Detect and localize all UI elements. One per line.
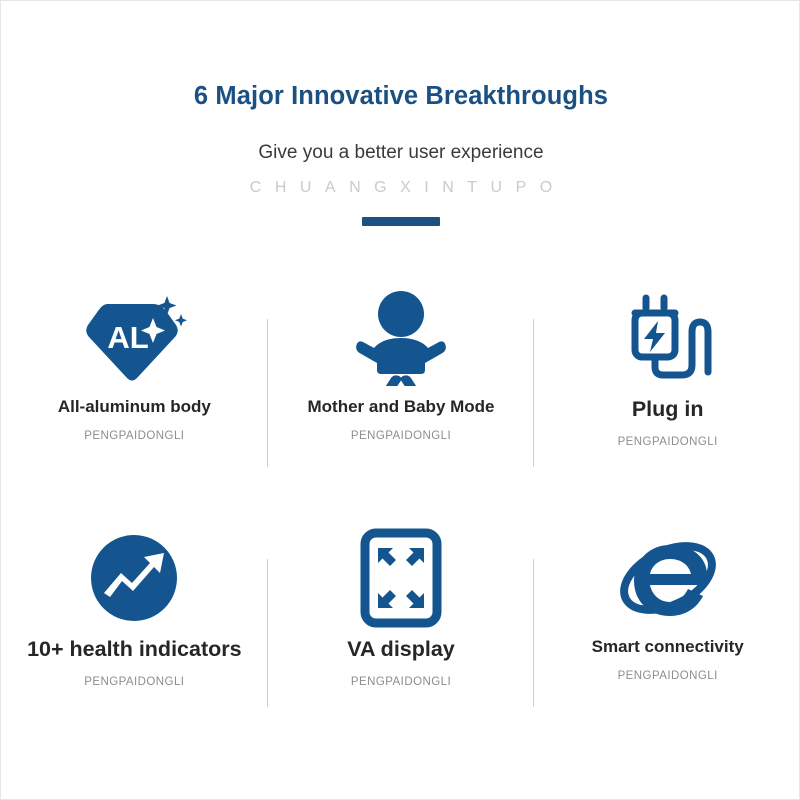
page-title: 6 Major Innovative Breakthroughs <box>1 1 800 112</box>
feature-row-1: AL All-aluminum body PENGPAIDONGLI <box>1 279 800 519</box>
feature-sublabel: PENGPAIDONGLI <box>351 430 451 444</box>
feature-label: 10+ health indicators <box>27 637 241 663</box>
accent-underline-bar <box>362 217 440 226</box>
feature-grid: AL All-aluminum body PENGPAIDONGLI <box>1 279 800 759</box>
feature-label: Smart connectivity <box>592 637 744 657</box>
feature-label: Plug in <box>632 397 704 423</box>
page-header: 6 Major Innovative Breakthroughs Give yo… <box>1 1 800 226</box>
aluminum-diamond-icon: AL <box>81 279 187 397</box>
feature-card-va-display[interactable]: VA display PENGPAIDONGLI <box>268 519 535 759</box>
feature-card-smart-connectivity[interactable]: Smart connectivity PENGPAIDONGLI <box>534 519 800 759</box>
feature-card-plug-in[interactable]: Plug in PENGPAIDONGLI <box>534 279 800 519</box>
feature-sublabel: PENGPAIDONGLI <box>618 670 718 684</box>
plug-charger-icon <box>622 279 714 397</box>
feature-sublabel: PENGPAIDONGLI <box>84 430 184 444</box>
feature-sublabel: PENGPAIDONGLI <box>351 676 451 690</box>
page-subtitle: Give you a better user experience <box>1 112 800 165</box>
feature-sublabel: PENGPAIDONGLI <box>84 676 184 690</box>
feature-card-all-aluminum-body[interactable]: AL All-aluminum body PENGPAIDONGLI <box>1 279 268 519</box>
feature-highlights-page: 6 Major Innovative Breakthroughs Give yo… <box>0 0 800 800</box>
trending-up-chart-icon <box>87 519 181 637</box>
feature-sublabel: PENGPAIDONGLI <box>618 436 718 450</box>
internet-explorer-e-icon <box>618 519 718 637</box>
feature-label: VA display <box>347 637 455 663</box>
pinyin-caption: CHUANGXINTUPO <box>1 164 800 197</box>
feature-card-health-indicators[interactable]: 10+ health indicators PENGPAIDONGLI <box>1 519 268 759</box>
baby-icon <box>355 279 447 397</box>
svg-text:AL: AL <box>108 320 149 355</box>
feature-card-mother-and-baby-mode[interactable]: Mother and Baby Mode PENGPAIDONGLI <box>268 279 535 519</box>
feature-row-2: 10+ health indicators PENGPAIDONGLI <box>1 519 800 759</box>
va-screen-icon <box>360 519 442 637</box>
feature-label: Mother and Baby Mode <box>308 397 495 417</box>
feature-label: All-aluminum body <box>58 397 211 417</box>
